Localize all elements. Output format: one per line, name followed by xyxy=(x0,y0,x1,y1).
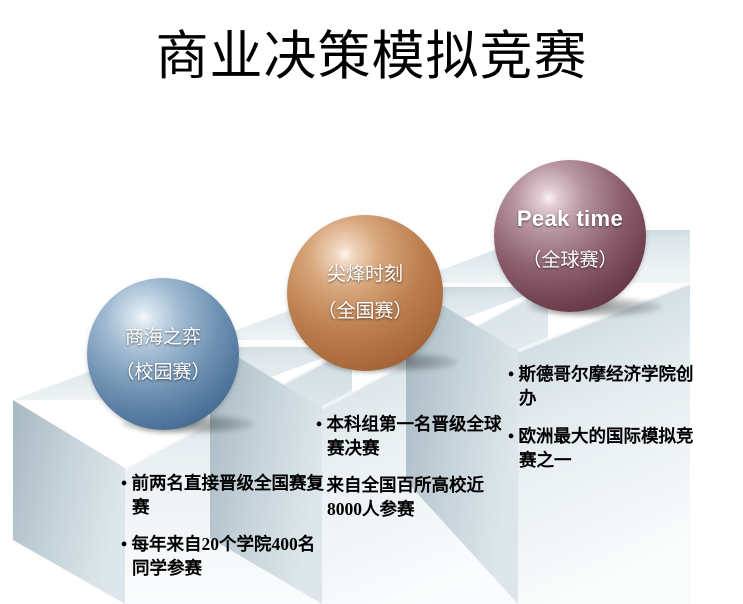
list-item: • 本科组第一名晋级全球赛决赛 xyxy=(316,412,506,460)
list-item: • 斯德哥尔摩经济学院创办 xyxy=(508,362,703,410)
sphere-campus-name: 商海之弈 xyxy=(87,322,239,349)
sphere-national[interactable]: 尖烽时刻 （全国赛） xyxy=(287,215,443,371)
list-item: • 前两名直接晋级全国赛复赛 xyxy=(121,471,326,519)
list-item: • 欧洲最大的国际模拟竞赛之一 xyxy=(508,424,703,472)
sphere-national-name: 尖烽时刻 xyxy=(287,259,443,286)
sphere-campus[interactable]: 商海之弈 （校园赛） xyxy=(87,278,239,430)
sphere-global[interactable]: Peak time （全球赛） xyxy=(494,160,646,312)
bullet-list-national: • 本科组第一名晋级全球赛决赛 • 来自全国百所高校近8000人参赛 xyxy=(316,412,506,521)
sphere-campus-scope: （校园赛） xyxy=(87,357,239,384)
list-item: • 每年来自20个学院400名同学参赛 xyxy=(121,532,326,580)
sphere-global-scope: （全球赛） xyxy=(494,245,646,272)
sphere-global-name: Peak time xyxy=(494,206,646,232)
list-item: • 来自全国百所高校近8000人参赛 xyxy=(316,473,506,521)
slide-canvas: 商业决策模拟竞赛 xyxy=(0,0,743,604)
bullet-list-campus: • 前两名直接晋级全国赛复赛 • 每年来自20个学院400名同学参赛 xyxy=(121,471,326,580)
sphere-gloss xyxy=(87,278,239,430)
sphere-gloss xyxy=(287,215,443,371)
sphere-gloss xyxy=(494,160,646,312)
bullet-list-global: • 斯德哥尔摩经济学院创办 • 欧洲最大的国际模拟竞赛之一 xyxy=(508,362,703,486)
sphere-national-scope: （全国赛） xyxy=(287,296,443,323)
